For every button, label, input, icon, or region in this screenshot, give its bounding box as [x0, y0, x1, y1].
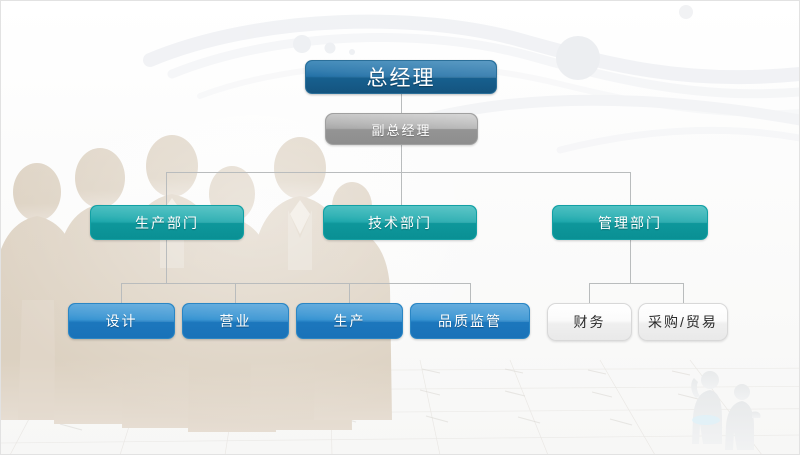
org-chart-canvas: 总经理 副总经理 生产部门 技术部门 管理部门 设计 营业 生产 品质监管 财务… — [0, 0, 800, 455]
node-management-department-label: 管理部门 — [598, 213, 662, 233]
node-purchasing-trade-label: 采购/贸易 — [648, 312, 718, 332]
node-deputy-general-manager-label: 副总经理 — [371, 120, 431, 139]
node-sales-label: 营业 — [220, 311, 252, 331]
node-production-department-label: 生产部门 — [135, 213, 199, 233]
node-quality-supervision-label: 品质监管 — [438, 311, 502, 331]
node-production-label: 生产 — [334, 311, 366, 331]
node-technical-department-label: 技术部门 — [368, 213, 432, 233]
node-finance-label: 财务 — [574, 312, 606, 332]
node-design-label: 设计 — [106, 311, 138, 331]
node-general-manager-label: 总经理 — [367, 62, 436, 92]
